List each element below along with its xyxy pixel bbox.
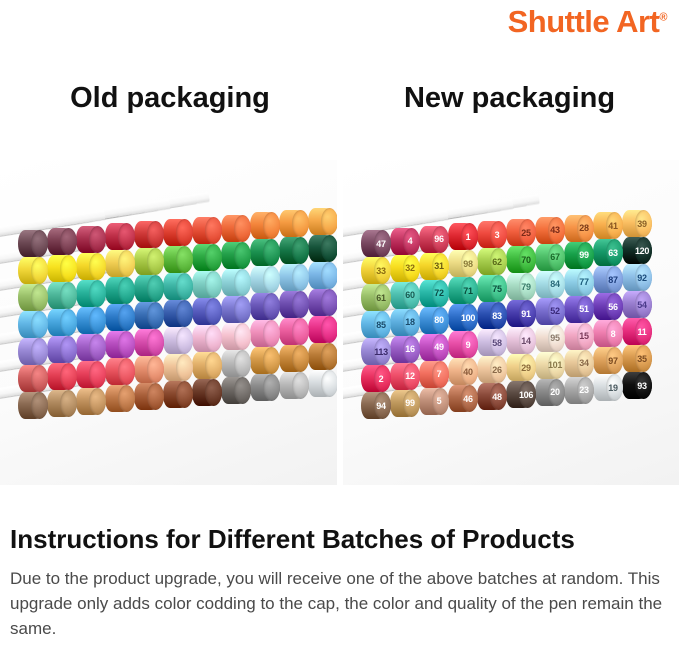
new-packaging-photo: 4749613254328413933323198627067996312061… (343, 160, 679, 485)
marker-cap (134, 221, 164, 248)
marker-row (18, 311, 337, 341)
marker-cap: 94 (361, 392, 391, 419)
registered-trademark-icon: ® (659, 12, 667, 24)
marker-cap (18, 392, 48, 419)
marker-cap: 3 (477, 221, 507, 248)
marker-row: 47496132543284139 (361, 230, 651, 260)
marker-row: 61607271757984778792 (361, 284, 651, 314)
marker-cap (18, 284, 48, 311)
marker-cap (308, 208, 337, 235)
marker-row: 2127402629101349735 (361, 365, 651, 395)
marker-cap: 25 (506, 219, 536, 246)
marker-cap: 33 (361, 257, 391, 284)
marker-cap (279, 210, 309, 237)
section-title: Instructions for Different Batches of Pr… (10, 524, 675, 555)
marker-cap: 39 (622, 210, 652, 237)
marker-cap (18, 338, 48, 365)
marker-cap: 47 (361, 230, 391, 257)
marker-row (18, 392, 337, 422)
marker-cap (18, 257, 48, 284)
marker-row: 1131649958149515811 (361, 338, 651, 368)
marker-cap (76, 226, 106, 253)
marker-cap-grid-new: 4749613254328413933323198627067996312061… (343, 160, 679, 485)
marker-cap (47, 228, 77, 255)
marker-row (18, 284, 337, 314)
marker-cap: 28 (564, 215, 594, 242)
panel-headings: Old packaging New packaging (0, 82, 679, 115)
marker-cap: 4 (390, 228, 420, 255)
brand-name: Shuttle Art (508, 4, 660, 39)
marker-cap: 61 (361, 284, 391, 311)
marker-cap (18, 365, 48, 392)
marker-cap: 96 (419, 226, 449, 253)
marker-cap (250, 212, 280, 239)
marker-row (18, 257, 337, 287)
marker-cap (18, 311, 48, 338)
marker-row: 851880100839152515654 (361, 311, 651, 341)
marker-cap: 85 (361, 311, 391, 338)
marker-cap: 113 (361, 338, 391, 365)
brand-logo: Shuttle Art® (508, 4, 667, 40)
marker-row (18, 230, 337, 260)
marker-cap (163, 219, 193, 246)
heading-old-packaging: Old packaging (0, 82, 340, 115)
marker-cap-grid-old (0, 160, 337, 485)
marker-cap (18, 230, 48, 257)
comparison-panels: 4749613254328413933323198627067996312061… (0, 160, 679, 485)
marker-cap: 1 (448, 223, 478, 250)
marker-row: 333231986270679963120 (361, 257, 651, 287)
marker-row: 94995464810620231993 (361, 392, 651, 422)
marker-cap (192, 217, 222, 244)
heading-new-packaging: New packaging (340, 82, 679, 115)
marker-row (18, 338, 337, 368)
marker-row (18, 365, 337, 395)
marker-cap: 2 (361, 365, 391, 392)
section-body-text: Due to the product upgrade, you will rec… (10, 566, 672, 641)
marker-cap: 41 (593, 212, 623, 239)
marker-cap (221, 215, 251, 242)
marker-cap: 43 (535, 217, 565, 244)
marker-cap (105, 223, 135, 250)
old-packaging-photo (0, 160, 337, 485)
